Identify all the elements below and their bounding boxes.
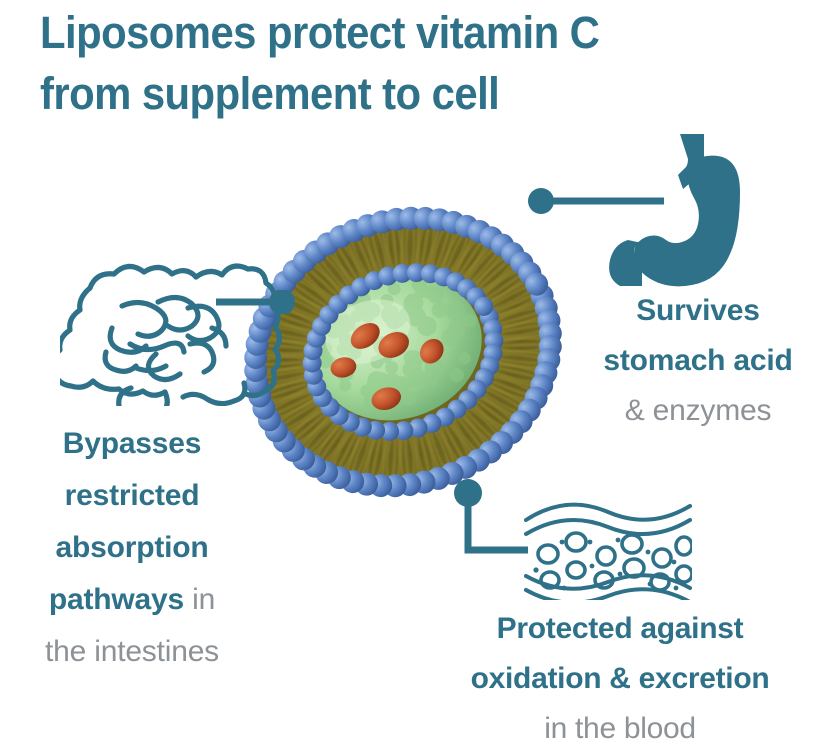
connector-dot [454,479,482,507]
label-muted: in the blood [408,704,832,754]
stomach-callout [606,132,740,287]
label-muted: & enzymes [560,386,836,436]
intestines-callout [60,236,290,406]
label-line: Bypasses [6,418,258,470]
label-muted: the intestines [6,626,258,678]
label-line: oxidation & excretion [408,654,832,704]
label-line: restricted [6,470,258,522]
callout-label-stomach: Survives stomach acid & enzymes [560,286,836,436]
stomach-icon [606,132,740,287]
connector-dot [269,290,295,314]
label-line: pathways in [6,574,258,626]
infographic-canvas: Liposomes protect vitamin C from supplem… [0,0,836,752]
label-line: stomach acid [560,336,836,386]
label-line: Survives [560,286,836,336]
label-muted: in [184,583,215,616]
blood-vessel-callout [524,496,692,600]
label-line: absorption [6,522,258,574]
callout-label-intestines: Bypasses restricted absorption pathways … [6,418,258,678]
connector-line [468,496,528,550]
blood-vessel-icon [524,496,692,600]
page-title: Liposomes protect vitamin C from supplem… [40,2,691,124]
label-line: Protected against [408,604,832,654]
intestines-icon [60,236,290,406]
callout-label-blood: Protected against oxidation & excretion … [408,604,832,754]
intestines-connector [214,290,300,314]
